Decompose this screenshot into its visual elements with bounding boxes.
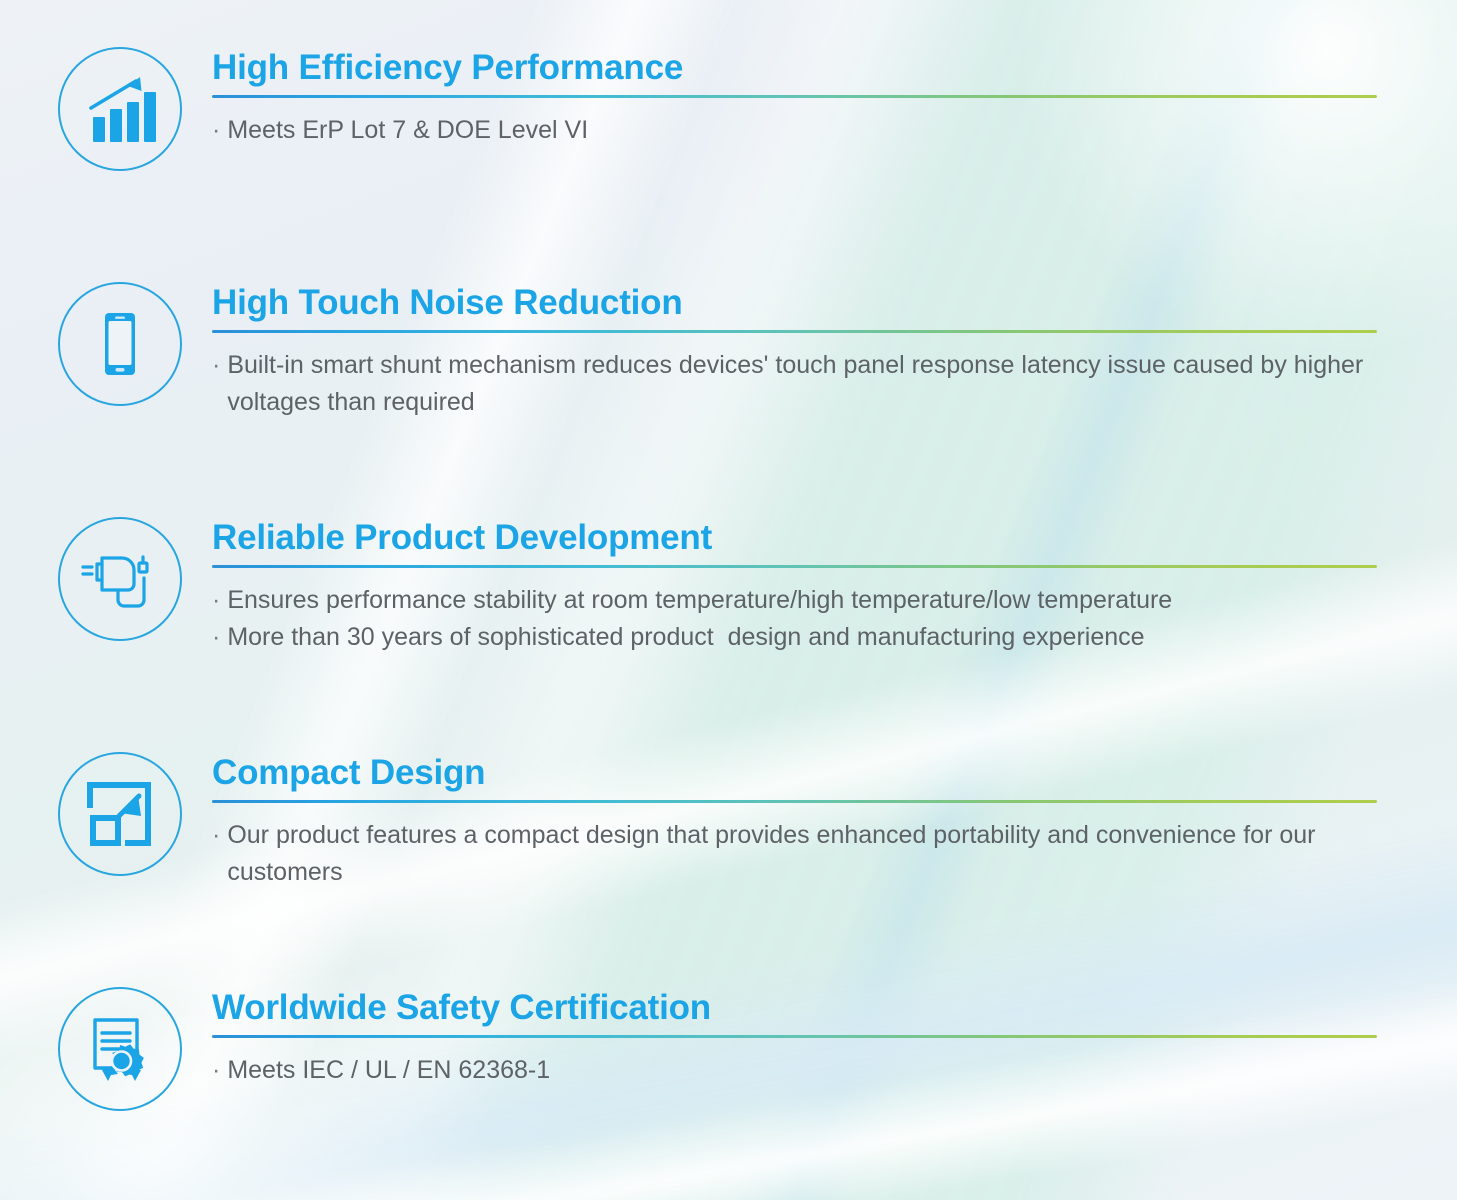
feature-item: Reliable Product Development ·Ensures pe… <box>0 517 1457 717</box>
feature-title: High Efficiency Performance <box>212 47 1377 95</box>
feature-title: Worldwide Safety Certification <box>212 987 1377 1035</box>
bullet-marker: · <box>212 582 220 619</box>
bullet-item: ·Our product features a compact design t… <box>212 817 1377 891</box>
feature-body: Reliable Product Development ·Ensures pe… <box>212 517 1377 656</box>
bullet-item: ·Meets ErP Lot 7 & DOE Level VI <box>212 112 1377 149</box>
feature-bullets: ·Meets ErP Lot 7 & DOE Level VI <box>212 98 1377 149</box>
feature-icon-wrap <box>58 282 182 406</box>
feature-body: High Efficiency Performance ·Meets ErP L… <box>212 47 1377 149</box>
feature-item: Worldwide Safety Certification ·Meets IE… <box>0 987 1457 1187</box>
feature-title: High Touch Noise Reduction <box>212 282 1377 330</box>
power-adapter-icon <box>58 517 182 641</box>
bullet-item: ·More than 30 years of sophisticated pro… <box>212 619 1377 656</box>
feature-body: Worldwide Safety Certification ·Meets IE… <box>212 987 1377 1089</box>
bullet-item: ·Meets IEC / UL / EN 62368-1 <box>212 1052 1377 1089</box>
feature-bullets: ·Our product features a compact design t… <box>212 803 1377 891</box>
bullet-text: More than 30 years of sophisticated prod… <box>227 619 1144 656</box>
feature-icon-wrap <box>58 517 182 641</box>
bullet-item: ·Built-in smart shunt mechanism reduces … <box>212 347 1377 421</box>
feature-title: Compact Design <box>212 752 1377 800</box>
feature-bullets: ·Built-in smart shunt mechanism reduces … <box>212 333 1377 421</box>
bullet-text: Our product features a compact design th… <box>227 817 1377 891</box>
bullet-marker: · <box>212 347 220 384</box>
feature-item: Compact Design ·Our product features a c… <box>0 752 1457 952</box>
bullet-text: Meets ErP Lot 7 & DOE Level VI <box>227 112 588 149</box>
bullet-text: Meets IEC / UL / EN 62368-1 <box>227 1052 550 1089</box>
feature-icon-wrap <box>58 47 182 171</box>
feature-item: High Touch Noise Reduction ·Built-in sma… <box>0 282 1457 482</box>
bar-chart-growth-icon <box>58 47 182 171</box>
bullet-marker: · <box>212 619 220 656</box>
compact-resize-icon <box>58 752 182 876</box>
smartphone-icon <box>58 282 182 406</box>
bullet-text: Built-in smart shunt mechanism reduces d… <box>227 347 1377 421</box>
feature-icon-wrap <box>58 752 182 876</box>
bullet-text: Ensures performance stability at room te… <box>227 582 1172 619</box>
feature-title: Reliable Product Development <box>212 517 1377 565</box>
bullet-marker: · <box>212 112 220 149</box>
certificate-award-icon <box>58 987 182 1111</box>
feature-bullets: ·Ensures performance stability at room t… <box>212 568 1377 656</box>
bullet-marker: · <box>212 817 220 854</box>
feature-highlights-page: High Efficiency Performance ·Meets ErP L… <box>0 0 1457 1200</box>
feature-item: High Efficiency Performance ·Meets ErP L… <box>0 47 1457 247</box>
bullet-marker: · <box>212 1052 220 1089</box>
bullet-item: ·Ensures performance stability at room t… <box>212 582 1377 619</box>
feature-body: High Touch Noise Reduction ·Built-in sma… <box>212 282 1377 421</box>
feature-icon-wrap <box>58 987 182 1111</box>
feature-bullets: ·Meets IEC / UL / EN 62368-1 <box>212 1038 1377 1089</box>
feature-body: Compact Design ·Our product features a c… <box>212 752 1377 891</box>
